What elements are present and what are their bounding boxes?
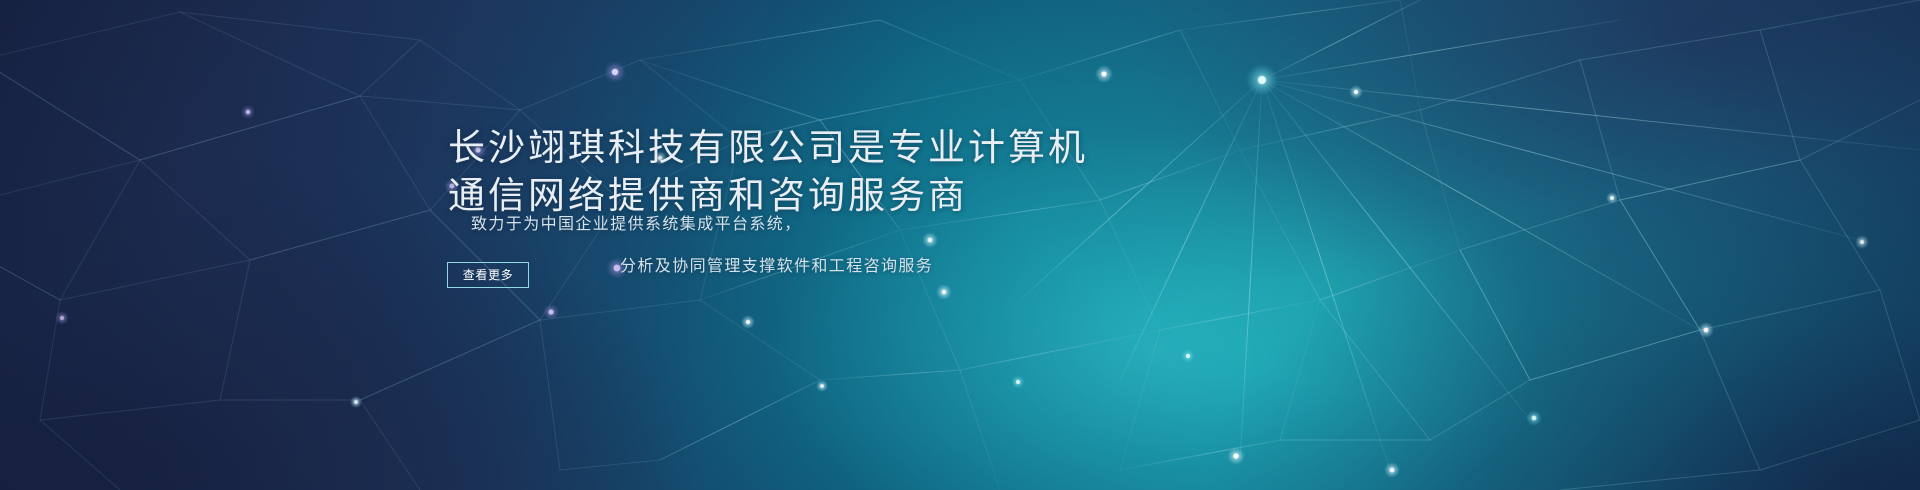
- subtext-line-2: 分析及协同管理支撑软件和工程咨询服务: [620, 256, 933, 278]
- banner-content: 长沙翊琪科技有限公司是专业计算机 通信网络提供商和咨询服务商 致力于为中国企业提…: [0, 0, 1920, 490]
- headline-line-2: 通信网络提供商和咨询服务商: [448, 172, 1348, 220]
- subtext-line-1: 致力于为中国企业提供系统集成平台系统，: [471, 214, 802, 236]
- headline-line-1: 长沙翊琪科技有限公司是专业计算机: [448, 124, 1348, 172]
- view-more-button[interactable]: 查看更多: [447, 262, 529, 288]
- hero-banner: 长沙翊琪科技有限公司是专业计算机 通信网络提供商和咨询服务商 致力于为中国企业提…: [0, 0, 1920, 490]
- headline-block: 长沙翊琪科技有限公司是专业计算机 通信网络提供商和咨询服务商: [448, 124, 1348, 220]
